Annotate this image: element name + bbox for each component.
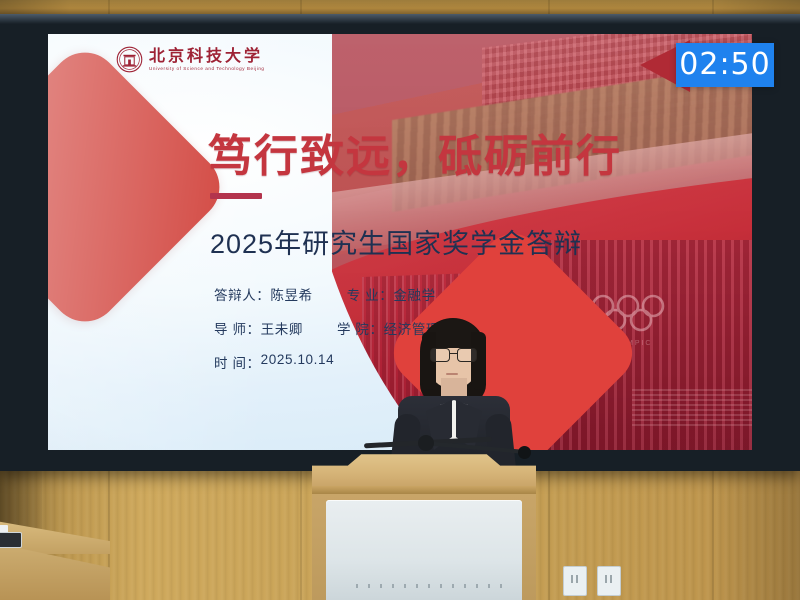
slide-subtitle: 2025年研究生国家奖学金答辩 [210,222,582,261]
slide-title-divider [210,193,262,199]
microphone-joint[interactable] [418,435,434,451]
logo-english-name: University of Science and Technology Bei… [149,67,265,72]
desk-device[interactable] [0,532,22,548]
presenter-mouth [446,373,458,375]
ustb-gate-emblem-icon [116,46,143,73]
countdown-timer-value: 02:50 [679,50,770,80]
lectern-front-panel [326,500,522,600]
bezel-highlight [0,14,800,24]
countdown-timer[interactable]: 02:50 [676,43,774,87]
lectern-front-edge [312,486,536,494]
glasses-lens-right [457,348,477,362]
slide-meta-row: 答辩人： 陈昱希 专 业： 金融学 [214,284,436,304]
meta-spacer [313,284,347,304]
wall-top-molding [0,0,800,14]
meta-value-major: 金融学 [393,284,435,304]
meta-value-advisor: 王未卿 [261,318,303,338]
glasses-lens-left [430,348,450,362]
slide-title: 笃行致远，砥砺前行 [208,120,622,184]
meta-label-advisor: 导 师： [214,318,261,338]
decorative-triangle-left [48,39,233,336]
microphone-head-icon[interactable] [518,446,531,459]
meta-spacer [303,318,337,338]
wall-outlet-right[interactable] [597,566,621,596]
control-desk [0,520,110,600]
photo-stadium-steps [632,386,752,426]
meta-label-date: 时 间： [214,352,261,372]
meta-label-presenter: 答辩人： [214,284,270,304]
university-logo: 北京科技大学 University of Science and Technol… [116,46,265,73]
wall-outlet-left[interactable] [563,566,587,596]
lectern-top-surface [312,452,536,490]
presenter-glasses-icon [429,348,478,360]
meta-label-major: 专 业： [347,284,394,304]
lectern-panel-perforations [356,584,506,588]
meta-value-date: 2025.10.14 [261,352,335,372]
wooden-lectern [312,452,536,600]
slide-meta-row: 时 间： 2025.10.14 [214,352,334,372]
logo-text-block: 北京科技大学 University of Science and Technol… [149,48,265,72]
meta-label-school: 学 院： [337,318,384,338]
meta-value-presenter: 陈昱希 [270,284,312,304]
logo-chinese-name: 北京科技大学 [149,48,265,64]
lecture-hall-scene: OLYMPIC 北京科技大学 [0,0,800,600]
